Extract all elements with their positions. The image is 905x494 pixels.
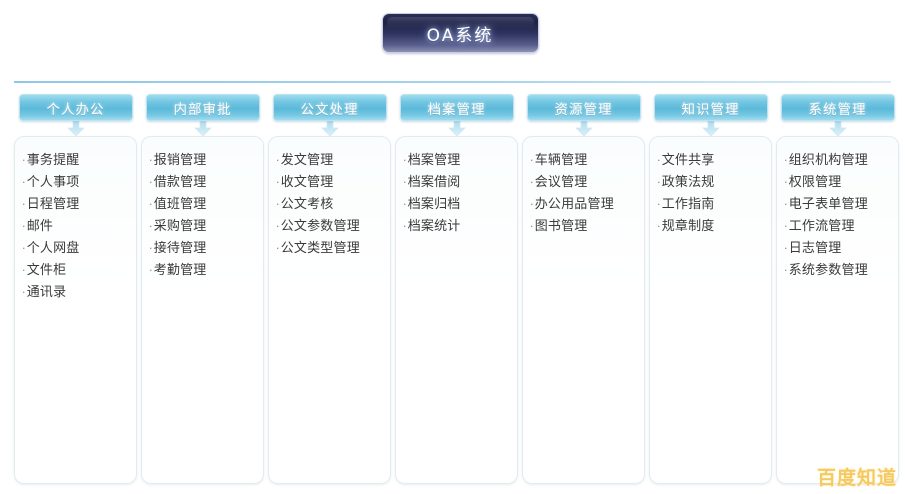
menu-item[interactable]: ·报销管理 xyxy=(149,150,259,172)
menu-item-label: 组织机构管理 xyxy=(789,153,868,168)
column-card: ·档案管理·档案借阅·档案归档·档案统计 xyxy=(395,136,518,484)
column-header-1[interactable]: 个人办公 xyxy=(19,94,133,121)
menu-item-label: 档案归档 xyxy=(408,197,461,212)
column-header-label: 公文处理 xyxy=(301,98,359,118)
menu-item[interactable]: ·值班管理 xyxy=(149,194,259,216)
arrow-down-icon xyxy=(446,120,468,137)
menu-item[interactable]: ·档案统计 xyxy=(403,216,513,238)
module-column: 档案管理·档案管理·档案借阅·档案归档·档案统计 xyxy=(395,94,518,484)
menu-item[interactable]: ·系统参数管理 xyxy=(784,260,894,282)
column-header-label: 内部审批 xyxy=(174,98,232,118)
column-header-label: 知识管理 xyxy=(682,98,740,118)
menu-item[interactable]: ·工作指南 xyxy=(657,194,767,216)
menu-item[interactable]: ·权限管理 xyxy=(784,172,894,194)
menu-item-label: 采购管理 xyxy=(154,219,207,234)
column-card: ·车辆管理·会议管理·办公用品管理·图书管理 xyxy=(522,136,645,484)
menu-item-label: 公文参数管理 xyxy=(281,219,360,234)
menu-item-label: 日志管理 xyxy=(789,241,842,256)
menu-item[interactable]: ·采购管理 xyxy=(149,216,259,238)
menu-item[interactable]: ·接待管理 xyxy=(149,238,259,260)
menu-item[interactable]: ·工作流管理 xyxy=(784,216,894,238)
menu-item-label: 档案借阅 xyxy=(408,175,461,190)
module-column: 公文处理·发文管理·收文管理·公文考核·公文参数管理·公文类型管理 xyxy=(268,94,391,484)
module-column: 个人办公·事务提醒·个人事项·日程管理·邮件·个人网盘·文件柜·通讯录 xyxy=(14,94,137,484)
menu-item-label: 政策法规 xyxy=(662,175,715,190)
column-header-6[interactable]: 知识管理 xyxy=(654,94,768,121)
column-header-7[interactable]: 系统管理 xyxy=(781,94,895,121)
app-title: OA系统 xyxy=(427,21,494,46)
menu-item-label: 档案管理 xyxy=(408,153,461,168)
watermark: 百度知道 xyxy=(817,463,897,490)
menu-item-label: 会议管理 xyxy=(535,175,588,190)
menu-item-label: 档案统计 xyxy=(408,219,461,234)
column-header-label: 档案管理 xyxy=(428,98,486,118)
module-column: 知识管理·文件共享·政策法规·工作指南·规章制度 xyxy=(649,94,772,484)
menu-item-label: 个人网盘 xyxy=(27,241,80,256)
menu-item-label: 日程管理 xyxy=(27,197,80,212)
column-header-3[interactable]: 公文处理 xyxy=(273,94,387,121)
module-column: 内部审批·报销管理·借款管理·值班管理·采购管理·接待管理·考勤管理 xyxy=(141,94,264,484)
menu-item[interactable]: ·公文类型管理 xyxy=(276,238,386,260)
menu-item[interactable]: ·档案归档 xyxy=(403,194,513,216)
column-card: ·发文管理·收文管理·公文考核·公文参数管理·公文类型管理 xyxy=(268,136,391,484)
menu-item[interactable]: ·档案借阅 xyxy=(403,172,513,194)
column-header-5[interactable]: 资源管理 xyxy=(527,94,641,121)
arrow-down-icon xyxy=(827,120,849,137)
arrow-down-icon xyxy=(319,120,341,137)
menu-item-label: 文件柜 xyxy=(27,263,67,278)
menu-item-label: 系统参数管理 xyxy=(789,263,868,278)
menu-item-label: 收文管理 xyxy=(281,175,334,190)
menu-item[interactable]: ·日程管理 xyxy=(22,194,132,216)
column-header-4[interactable]: 档案管理 xyxy=(400,94,514,121)
menu-item[interactable]: ·文件柜 xyxy=(22,260,132,282)
column-card: ·事务提醒·个人事项·日程管理·邮件·个人网盘·文件柜·通讯录 xyxy=(14,136,137,484)
menu-item[interactable]: ·发文管理 xyxy=(276,150,386,172)
menu-item[interactable]: ·公文考核 xyxy=(276,194,386,216)
arrow-down-icon xyxy=(573,120,595,137)
menu-item-label: 车辆管理 xyxy=(535,153,588,168)
menu-item[interactable]: ·档案管理 xyxy=(403,150,513,172)
menu-item-label: 接待管理 xyxy=(154,241,207,256)
title-area: OA系统 xyxy=(0,0,905,66)
menu-item[interactable]: ·电子表单管理 xyxy=(784,194,894,216)
module-column: 系统管理·组织机构管理·权限管理·电子表单管理·工作流管理·日志管理·系统参数管… xyxy=(776,94,899,484)
menu-item[interactable]: ·公文参数管理 xyxy=(276,216,386,238)
menu-item-label: 文件共享 xyxy=(662,153,715,168)
menu-item[interactable]: ·收文管理 xyxy=(276,172,386,194)
menu-item-label: 报销管理 xyxy=(154,153,207,168)
menu-item-label: 公文考核 xyxy=(281,197,334,212)
menu-item-label: 公文类型管理 xyxy=(281,241,360,256)
column-header-2[interactable]: 内部审批 xyxy=(146,94,260,121)
menu-item-label: 考勤管理 xyxy=(154,263,207,278)
column-card: ·文件共享·政策法规·工作指南·规章制度 xyxy=(649,136,772,484)
menu-item[interactable]: ·图书管理 xyxy=(530,216,640,238)
menu-item-label: 借款管理 xyxy=(154,175,207,190)
menu-item[interactable]: ·借款管理 xyxy=(149,172,259,194)
arrow-down-icon xyxy=(65,120,87,137)
menu-item[interactable]: ·个人网盘 xyxy=(22,238,132,260)
menu-item-label: 权限管理 xyxy=(789,175,842,190)
column-header-label: 资源管理 xyxy=(555,98,613,118)
menu-item[interactable]: ·邮件 xyxy=(22,216,132,238)
module-column: 资源管理·车辆管理·会议管理·办公用品管理·图书管理 xyxy=(522,94,645,484)
column-header-label: 个人办公 xyxy=(47,98,105,118)
menu-item-label: 值班管理 xyxy=(154,197,207,212)
menu-item[interactable]: ·文件共享 xyxy=(657,150,767,172)
header-divider xyxy=(14,81,891,83)
app-title-box: OA系统 xyxy=(382,13,539,53)
menu-item-label: 事务提醒 xyxy=(27,153,80,168)
menu-item[interactable]: ·会议管理 xyxy=(530,172,640,194)
menu-item-label: 发文管理 xyxy=(281,153,334,168)
menu-item-label: 通讯录 xyxy=(27,285,67,300)
menu-item[interactable]: ·日志管理 xyxy=(784,238,894,260)
column-card: ·报销管理·借款管理·值班管理·采购管理·接待管理·考勤管理 xyxy=(141,136,264,484)
menu-item[interactable]: ·个人事项 xyxy=(22,172,132,194)
menu-item[interactable]: ·规章制度 xyxy=(657,216,767,238)
column-header-label: 系统管理 xyxy=(809,98,867,118)
module-columns: 个人办公·事务提醒·个人事项·日程管理·邮件·个人网盘·文件柜·通讯录内部审批·… xyxy=(14,94,891,484)
menu-item[interactable]: ·组织机构管理 xyxy=(784,150,894,172)
menu-item-label: 规章制度 xyxy=(662,219,715,234)
menu-item-label: 图书管理 xyxy=(535,219,588,234)
arrow-down-icon xyxy=(700,120,722,137)
arrow-down-icon xyxy=(192,120,214,137)
menu-item-label: 邮件 xyxy=(27,219,53,234)
menu-item[interactable]: ·车辆管理 xyxy=(530,150,640,172)
menu-item[interactable]: ·办公用品管理 xyxy=(530,194,640,216)
menu-item-label: 个人事项 xyxy=(27,175,80,190)
menu-item-label: 工作指南 xyxy=(662,197,715,212)
menu-item[interactable]: ·通讯录 xyxy=(22,282,132,304)
menu-item[interactable]: ·考勤管理 xyxy=(149,260,259,282)
column-card: ·组织机构管理·权限管理·电子表单管理·工作流管理·日志管理·系统参数管理 xyxy=(776,136,899,484)
menu-item-label: 工作流管理 xyxy=(789,219,855,234)
menu-item[interactable]: ·政策法规 xyxy=(657,172,767,194)
menu-item[interactable]: ·事务提醒 xyxy=(22,150,132,172)
menu-item-label: 电子表单管理 xyxy=(789,197,868,212)
menu-item-label: 办公用品管理 xyxy=(535,197,614,212)
